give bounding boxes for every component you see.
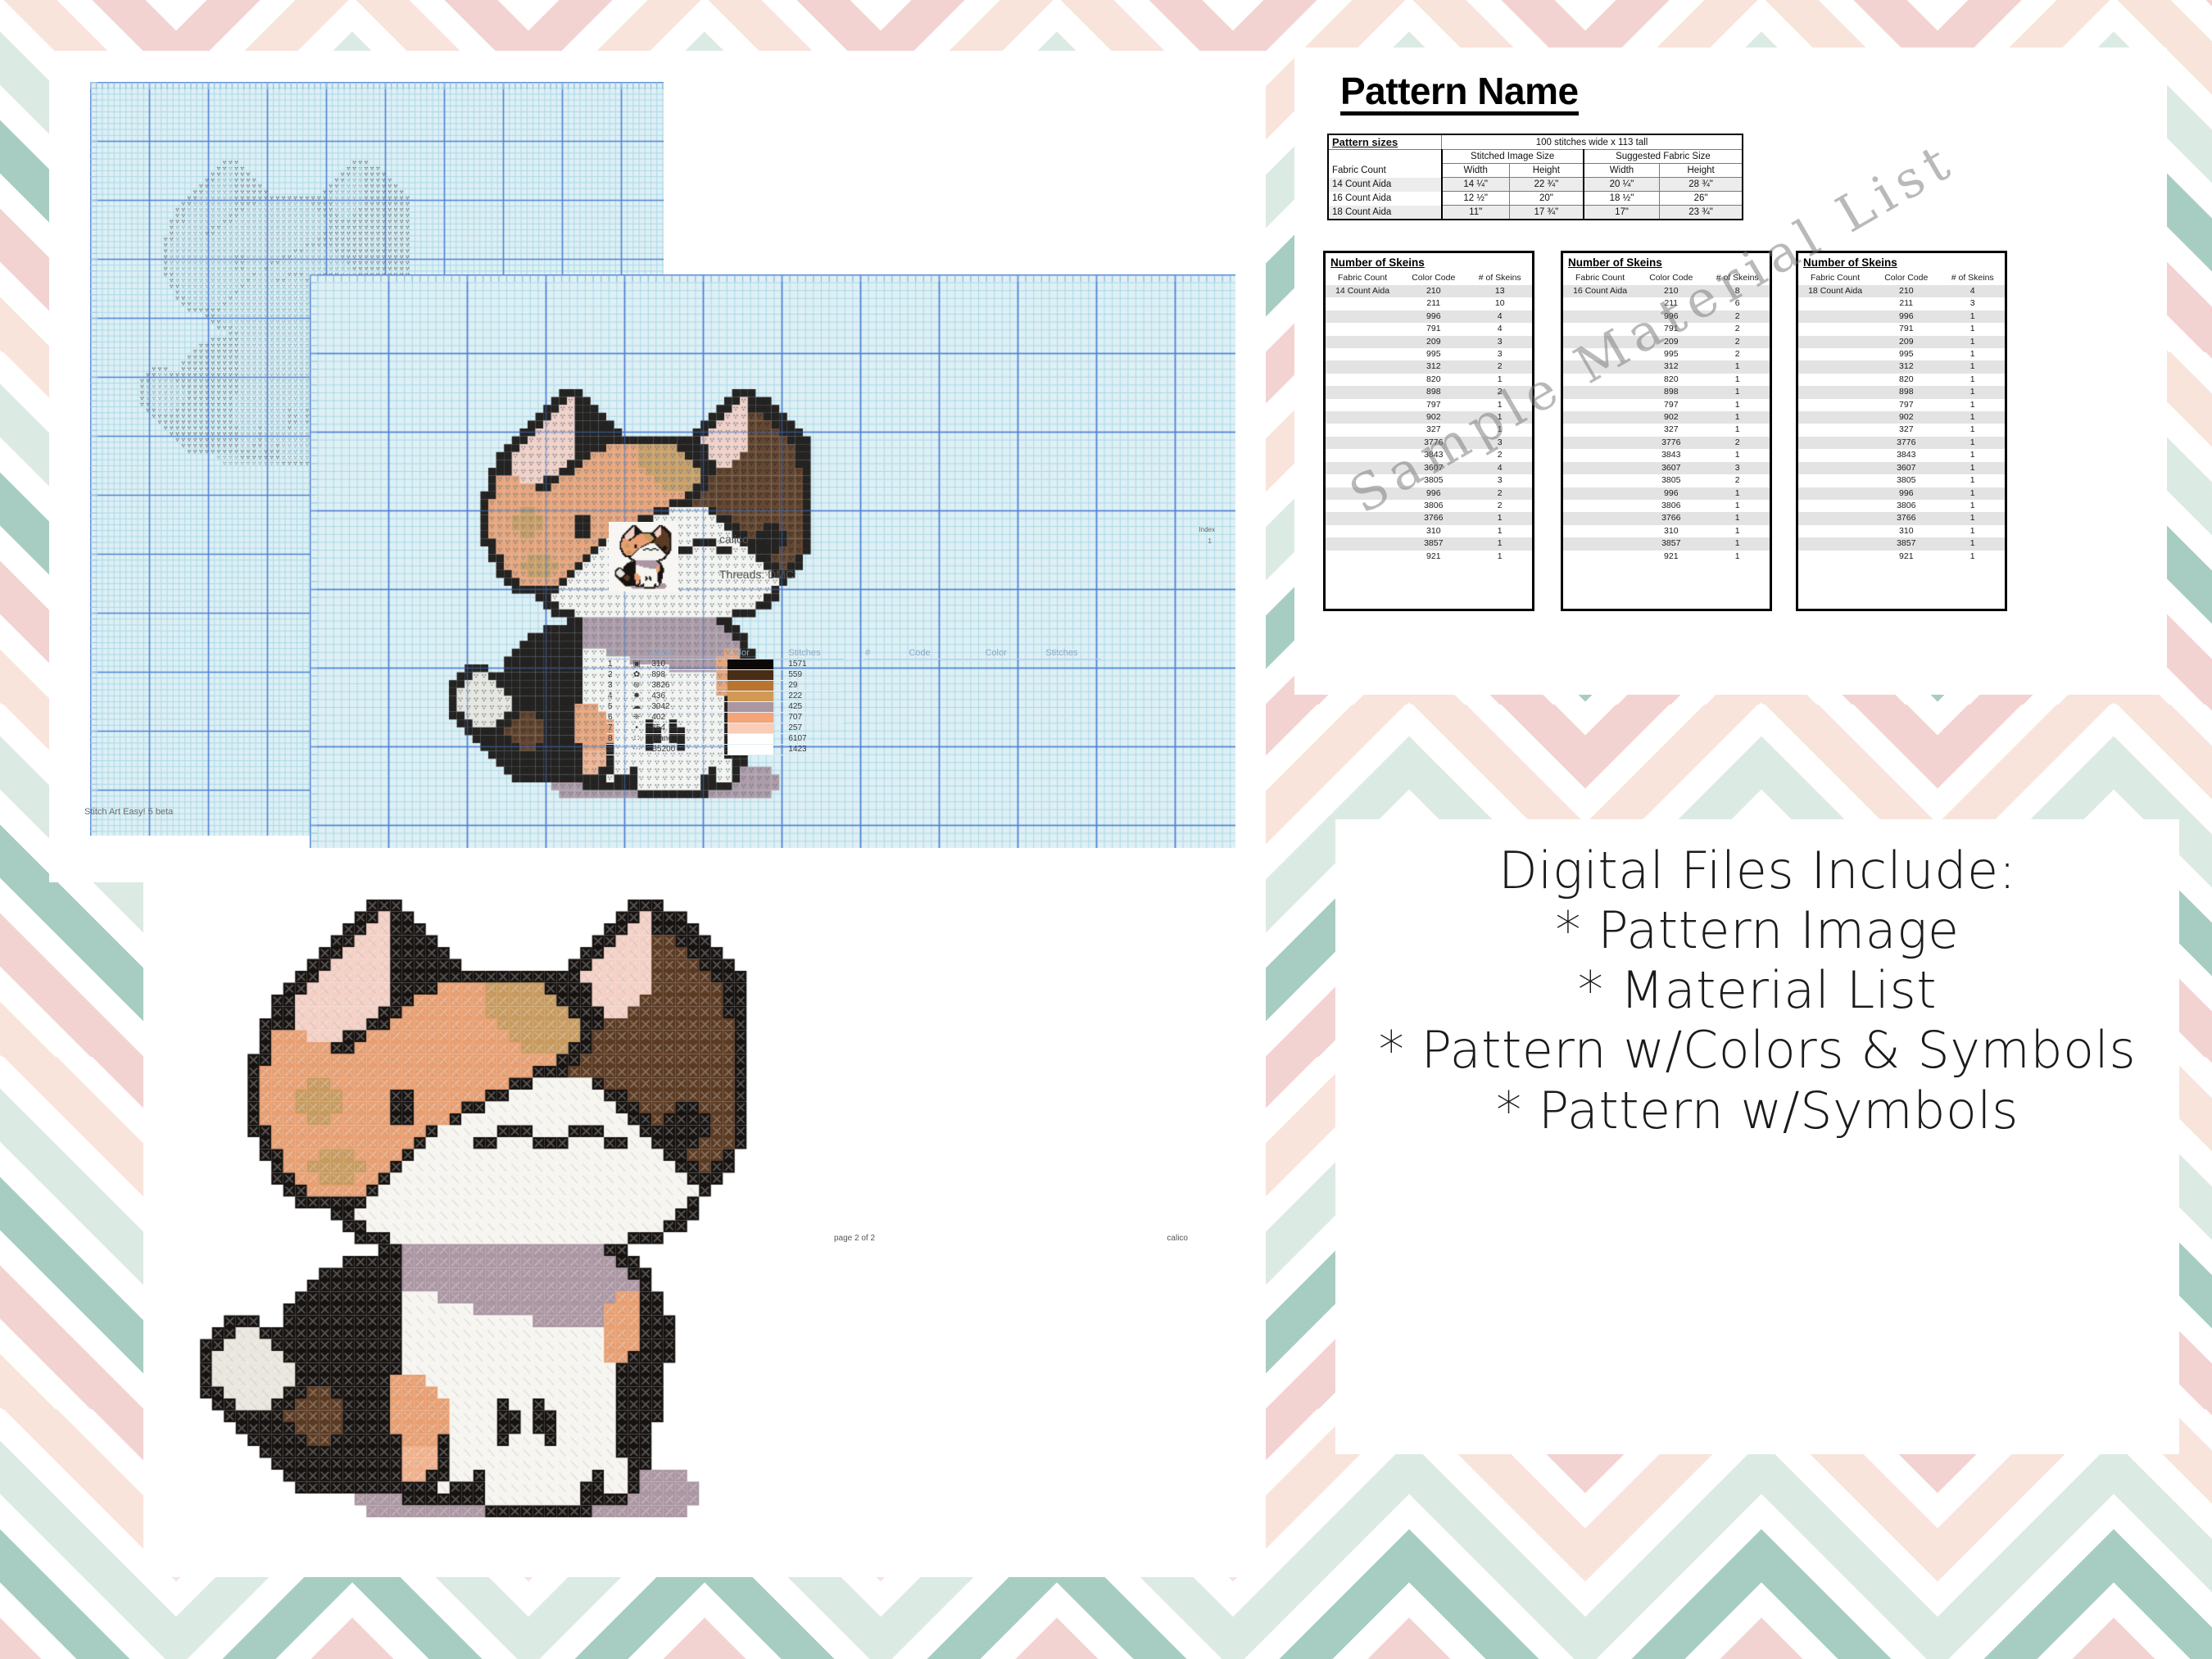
skeins-count: 1 [1940,487,2005,500]
legend-symbol-icon: ☁ [623,702,650,713]
skeins-row: 2113 [1798,297,2005,310]
digital-files-item-0: * Pattern Image [1556,900,1960,960]
skeins-row: 38571 [1563,537,1770,550]
skeins-count: 1 [1940,537,2005,550]
legend-index-value: 1 [1208,537,1212,545]
skeins-row: 38061 [1563,500,1770,512]
skeins-count: 3 [1467,474,1532,487]
skeins-fabric-count [1563,474,1637,487]
skeins-fabric-count [1326,525,1399,537]
legend-color-swatch [728,670,786,681]
skeins-header-row-1: Fabric Count Color Code # of Skeins [1563,271,1770,285]
legend-stitch-count: 29 [786,681,844,691]
skeins-fabric-count [1563,437,1637,449]
thread-legend-table: # Code Color Stitches 1▣31015712✿8985593… [606,647,844,755]
skeins-row: 14 Count Aida21013 [1326,285,1532,297]
skeins-count: 3 [1705,462,1770,474]
skeins-fabric-count [1563,374,1637,386]
skeins-color-code: 996 [1637,487,1705,500]
skeins-fabric-count [1326,474,1399,487]
legend-number: 8 [606,734,623,745]
skeins-color-code: 902 [1872,411,1940,424]
digital-files-item-2: * Pattern w/Colors & Symbols [1348,1020,2167,1080]
skeins-fabric-count [1563,336,1637,348]
sizes-row: 16 Count Aida12 ½"20"18 ½"26" [1328,192,1743,206]
legend-code: 3826 [650,681,728,691]
skeins-fabric-count [1563,462,1637,474]
skeins-color-code: 921 [1637,551,1705,563]
skeins-count: 1 [1940,336,2005,348]
skeins-fabric-count [1326,424,1399,436]
legend-threads-label: Threads: DMC [719,568,794,581]
skeins-color-code: 3805 [1399,474,1467,487]
skeins-row: 9961 [1563,487,1770,500]
skeins-count: 2 [1705,323,1770,335]
skeins-row: 8982 [1326,386,1532,398]
skeins-color-code: 209 [1872,336,1940,348]
skeins-color-code: 210 [1399,285,1467,297]
skeins-table-2: Fabric Count Color Code # of Skeins 18 C… [1798,271,2005,563]
skeins-row: 7971 [1798,399,2005,411]
skeins-row: 9952 [1563,348,1770,360]
skeins-fabric-count [1798,348,1872,360]
skeins-color-code: 791 [1872,323,1940,335]
skeins-row: 9951 [1798,348,2005,360]
legend-color-swatch [728,691,786,702]
skeins-fabric-count [1798,487,1872,500]
skeins-row: 38432 [1326,449,1532,461]
skeins-row: 2093 [1326,336,1532,348]
legend-symbol-icon: ✸ [623,691,650,702]
skeins-count: 4 [1467,323,1532,335]
legend-code: 3042 [650,702,728,713]
legend-code: 310 [650,660,728,670]
skeins-color-code: 210 [1637,285,1705,297]
skeins-count: 1 [1705,386,1770,398]
skeins-color-code: 3607 [1872,462,1940,474]
skeins-row: 7912 [1563,323,1770,335]
col-code-2: Code [907,647,985,660]
skeins-heading-2: Number of Skeins [1798,253,2005,271]
skeins-row: 9953 [1326,348,1532,360]
legend-color-swatch [728,702,786,713]
skeins-row: 7971 [1326,399,1532,411]
skeins-count: 1 [1940,462,2005,474]
sizes-stitched-height: 22 ¾" [1509,178,1583,192]
col-stitches-2: Stitches [1044,647,1101,660]
skeins-color-code: 3805 [1637,474,1705,487]
sizes-blank-cell [1328,150,1442,164]
skeins-row: 37661 [1326,512,1532,524]
skeins-count: 1 [1705,424,1770,436]
legend-stitch-count: 6107 [786,734,844,745]
thread-legend-row: 2✿898559 [606,670,844,681]
skeins-fabric-count [1326,297,1399,310]
skeins-count: 4 [1940,285,2005,297]
skeins-color-code: 211 [1399,297,1467,310]
skeins-fabric-count [1563,360,1637,373]
skeins-color-code: 898 [1872,386,1940,398]
thread-legend-row: 7•754257 [606,723,844,734]
skeins-row: 9961 [1798,487,2005,500]
skeins-row: 9961 [1798,310,2005,323]
skeins-fabric-count [1798,462,1872,474]
skeins-color-code: 3843 [1399,449,1467,461]
skeins-fabric-count [1563,348,1637,360]
skeins-color-code: 3766 [1399,512,1467,524]
skeins-count: 3 [1467,348,1532,360]
skeins-col-skeins-1: # of Skeins [1705,271,1770,285]
skeins-color-code: 820 [1399,374,1467,386]
skeins-color-code: 3805 [1872,474,1940,487]
legend-color-swatch [728,723,786,734]
skeins-color-code: 327 [1637,424,1705,436]
skeins-count: 2 [1467,360,1532,373]
sizes-fabric: 16 Count Aida [1328,192,1442,206]
legend-code: 436 [650,691,728,702]
skeins-row: 3101 [1798,525,2005,537]
sizes-stitched-height: 17 ¾" [1509,206,1583,220]
skeins-color-code: 791 [1637,323,1705,335]
sizes-fabric-width: 20 ¼" [1584,178,1660,192]
legend-number: 7 [606,723,623,734]
skeins-fabric-count [1326,348,1399,360]
skeins-row: 9964 [1326,310,1532,323]
thread-legend-row: 5☁3042425 [606,702,844,713]
skeins-fabric-count [1326,336,1399,348]
skeins-row: 9211 [1563,551,1770,563]
material-list-document: Pattern Name Pattern sizes 100 stitches … [1294,48,2167,695]
skeins-fabric-count [1563,551,1637,563]
skeins-count: 1 [1940,360,2005,373]
skeins-color-code: 3857 [1399,537,1467,550]
skeins-color-code: 327 [1872,424,1940,436]
thread-legend-table-continued: # Code Color Stitches [863,647,1101,660]
sizes-fabric-height: 26" [1660,192,1743,206]
col-number: # [606,647,623,660]
skeins-count: 1 [1467,374,1532,386]
skeins-color-code: 995 [1637,348,1705,360]
group-stitched-size: Stitched Image Size [1442,150,1584,164]
skeins-color-code: 902 [1399,411,1467,424]
col-fabric-width: Width [1584,164,1660,178]
skeins-count: 3 [1467,336,1532,348]
legend-stitch-count: 425 [786,702,844,713]
skeins-fabric-count [1326,437,1399,449]
skeins-row: 38431 [1563,449,1770,461]
skeins-color-code: 310 [1637,525,1705,537]
skeins-fabric-count [1798,297,1872,310]
skeins-row: 37661 [1798,512,2005,524]
skeins-row: 2092 [1563,336,1770,348]
skeins-fabric-count [1326,551,1399,563]
skeins-fabric-count [1798,336,1872,348]
skeins-fabric-count [1326,462,1399,474]
col-stitches: Stitches [786,647,844,660]
legend-symbol-icon: ✿ [623,670,650,681]
skeins-fabric-count [1563,297,1637,310]
digital-files-item-3: * Pattern w/Symbols [1496,1081,2019,1140]
skeins-color-code: 3857 [1637,537,1705,550]
skeins-fabric-count [1563,449,1637,461]
skeins-count: 1 [1705,399,1770,411]
legend-code: 754 [650,723,728,734]
legend-stitch-count: 1423 [786,745,844,755]
skeins-header-row-2: Fabric Count Color Code # of Skeins [1798,271,2005,285]
skeins-color-code: 3806 [1399,500,1467,512]
legend-stitch-count: 1571 [786,660,844,670]
skeins-color-code: 3857 [1872,537,1940,550]
thread-legend-row: 3⊛382629 [606,681,844,691]
legend-symbol-icon: ⋯ [623,745,650,755]
skeins-row: 38051 [1798,474,2005,487]
legend-number: 1 [606,660,623,670]
skeins-row: 38061 [1798,500,2005,512]
skeins-color-code: 3607 [1399,462,1467,474]
skeins-color-code: 902 [1637,411,1705,424]
skeins-col-fabric-0: Fabric Count [1326,271,1399,285]
skeins-count: 1 [1705,411,1770,424]
skeins-row: 8201 [1563,374,1770,386]
skeins-count: 1 [1705,537,1770,550]
skeins-count: 1 [1940,348,2005,360]
sizes-fabric-height: 23 ¾" [1660,206,1743,220]
skeins-color-code: 791 [1399,323,1467,335]
skeins-row: 9211 [1798,551,2005,563]
skeins-fabric-count [1798,537,1872,550]
sizes-row: 18 Count Aida11"17 ¾"17"23 ¾" [1328,206,1743,220]
legend-color-swatch [728,681,786,691]
thread-legend-row: 6❈402707 [606,713,844,723]
skeins-color-code: 312 [1637,360,1705,373]
skeins-count: 2 [1705,310,1770,323]
thread-legend-row: 8∷Blanc6107 [606,734,844,745]
skeins-count: 1 [1940,399,2005,411]
col-fabric-count: Fabric Count [1328,164,1442,178]
skeins-row: 9021 [1326,411,1532,424]
skeins-color-code: 3843 [1872,449,1940,461]
col-stitched-width: Width [1442,164,1510,178]
skeins-color-code: 3776 [1872,437,1940,449]
pattern-sizes-table: Pattern sizes 100 stitches wide x 113 ta… [1327,134,1743,220]
software-watermark: Stitch Art Easy! 5 beta [84,807,173,817]
sizes-stitched-height: 20" [1509,192,1583,206]
skeins-count: 2 [1705,474,1770,487]
skeins-count: 1 [1940,474,2005,487]
skeins-color-code: 3776 [1399,437,1467,449]
sizes-fabric-width: 17" [1584,206,1660,220]
skeins-fabric-count [1563,500,1637,512]
legend-number: 5 [606,702,623,713]
skeins-count: 1 [1940,551,2005,563]
skeins-count: 1 [1467,512,1532,524]
skeins-count: 1 [1940,424,2005,436]
col-stitched-height: Height [1509,164,1583,178]
sizes-fabric-height: 28 ¾" [1660,178,1743,192]
stitch-count-label: 100 stitches wide x 113 tall [1442,134,1743,150]
skeins-count: 1 [1467,411,1532,424]
skeins-fabric-count [1798,399,1872,411]
skeins-count: 2 [1467,487,1532,500]
skeins-row: 7914 [1326,323,1532,335]
legend-footer-pattern-name: calico [1167,1234,1188,1243]
skeins-fabric-count [1563,411,1637,424]
skeins-row: 8201 [1326,374,1532,386]
skeins-fabric-count [1326,500,1399,512]
skeins-color-code: 797 [1637,399,1705,411]
skeins-fabric-count [1798,449,1872,461]
skeins-fabric-count [1798,374,1872,386]
skeins-color-code: 3776 [1637,437,1705,449]
skeins-count: 2 [1467,500,1532,512]
skeins-color-code: 996 [1637,310,1705,323]
skeins-color-code: 3806 [1637,500,1705,512]
skeins-fabric-count [1563,323,1637,335]
skeins-fabric-count [1798,551,1872,563]
pattern-sizes-heading: Pattern sizes [1328,134,1442,150]
skeins-color-code: 898 [1637,386,1705,398]
skeins-row: 37761 [1798,437,2005,449]
skeins-count: 1 [1705,500,1770,512]
skeins-heading-0: Number of Skeins [1326,253,1532,271]
skeins-color-code: 996 [1872,487,1940,500]
skeins-fabric-count [1563,537,1637,550]
skeins-count: 10 [1467,297,1532,310]
skeins-col-code-1: Color Code [1637,271,1705,285]
skeins-count: 1 [1705,525,1770,537]
sizes-fabric: 18 Count Aida [1328,206,1442,220]
skeins-col-code-0: Color Code [1399,271,1467,285]
skeins-count: 1 [1467,551,1532,563]
skeins-row: 37661 [1563,512,1770,524]
skeins-fabric-count [1798,500,1872,512]
skeins-row: 38062 [1326,500,1532,512]
skeins-row: 3101 [1563,525,1770,537]
col-symbol [623,647,650,660]
col-code: Code [650,647,728,660]
skeins-color-code: 996 [1399,310,1467,323]
col-number-2: # [863,647,881,660]
skeins-color-code: 210 [1872,285,1940,297]
legend-stitch-count: 222 [786,691,844,702]
skeins-color-code: 921 [1872,551,1940,563]
skeins-row: 3121 [1798,360,2005,373]
skeins-color-code: 327 [1399,424,1467,436]
sizes-group-row: Stitched Image Size Suggested Fabric Siz… [1328,150,1743,164]
skeins-row: 38431 [1798,449,2005,461]
skeins-count: 1 [1940,500,2005,512]
skeins-fabric-count [1326,411,1399,424]
skeins-fabric-count [1326,512,1399,524]
digital-files-list: Digital Files Include: * Pattern Image *… [1335,819,2179,1454]
sizes-column-row: Fabric Count Width Height Width Height [1328,164,1743,178]
skeins-color-code: 820 [1872,374,1940,386]
skeins-row: 3271 [1326,424,1532,436]
skeins-row: 9962 [1326,487,1532,500]
skeins-fabric-count [1798,424,1872,436]
legend-stitch-count: 559 [786,670,844,681]
skeins-row: 3121 [1563,360,1770,373]
digital-files-item-1: * Material List [1578,960,1937,1020]
col-color: Color [728,647,786,660]
skeins-count: 6 [1705,297,1770,310]
skeins-count: 1 [1940,310,2005,323]
skeins-count: 3 [1467,437,1532,449]
skeins-row: 16 Count Aida2108 [1563,285,1770,297]
skeins-fabric-count [1563,512,1637,524]
skeins-color-code: 3806 [1872,500,1940,512]
legend-code: 898 [650,670,728,681]
skeins-heading-1: Number of Skeins [1563,253,1770,271]
skeins-row: 38571 [1326,537,1532,550]
pattern-preview-image [193,844,766,1573]
skeins-fabric-count [1798,512,1872,524]
skeins-col-fabric-1: Fabric Count [1563,271,1637,285]
legend-color-swatch [728,660,786,670]
legend-color-swatch [728,734,786,745]
skeins-count: 3 [1940,297,2005,310]
skeins-fabric-count [1798,437,1872,449]
legend-stitch-count: 707 [786,713,844,723]
skeins-fabric-count: 16 Count Aida [1563,285,1637,297]
sizes-stitched-width: 14 ¼" [1442,178,1510,192]
skeins-fabric-count [1563,386,1637,398]
legend-stitch-count: 257 [786,723,844,734]
col-color-2: Color [985,647,1044,660]
legend-code: 402 [650,713,728,723]
skeins-fabric-count [1798,386,1872,398]
skeins-fabric-count [1798,474,1872,487]
digital-files-heading: Digital Files Include: [1498,841,2016,900]
skeins-count: 4 [1467,310,1532,323]
skeins-table-0: Fabric Count Color Code # of Skeins 14 C… [1326,271,1532,563]
skeins-color-code: 996 [1399,487,1467,500]
skeins-count: 1 [1467,399,1532,411]
skeins-row: 38053 [1326,474,1532,487]
thread-legend-row: 9⋯B52001423 [606,745,844,755]
skeins-fabric-count [1563,310,1637,323]
skeins-color-code: 898 [1399,386,1467,398]
skeins-count: 2 [1467,386,1532,398]
skeins-row: 38052 [1563,474,1770,487]
skeins-col-skeins-0: # of Skeins [1467,271,1532,285]
legend-symbol-icon: • [623,723,650,734]
skeins-color-code: 209 [1399,336,1467,348]
page-title: Pattern Name [1340,72,1579,116]
sizes-stitched-width: 12 ½" [1442,192,1510,206]
skeins-color-code: 209 [1637,336,1705,348]
skeins-count: 1 [1705,512,1770,524]
skeins-fabric-count [1798,323,1872,335]
skeins-color-code: 797 [1399,399,1467,411]
skeins-row: 8981 [1563,386,1770,398]
skeins-fabric-count [1326,323,1399,335]
skeins-row: 3271 [1798,424,2005,436]
skeins-fabric-count [1326,487,1399,500]
skeins-count: 1 [1705,360,1770,373]
skeins-count: 2 [1705,336,1770,348]
skeins-count: 1 [1940,374,2005,386]
thread-legend-header-row: # Code Color Stitches [606,647,844,660]
skeins-count: 2 [1467,449,1532,461]
skeins-col-skeins-2: # of Skeins [1940,271,2005,285]
skeins-header-row-0: Fabric Count Color Code # of Skeins [1326,271,1532,285]
skeins-row: 8201 [1798,374,2005,386]
skeins-fabric-count [1326,374,1399,386]
legend-footer-page-number: page 2 of 2 [834,1234,875,1243]
skeins-row: 36071 [1798,462,2005,474]
thread-legend-header-row-2: # Code Color Stitches [863,647,1101,660]
